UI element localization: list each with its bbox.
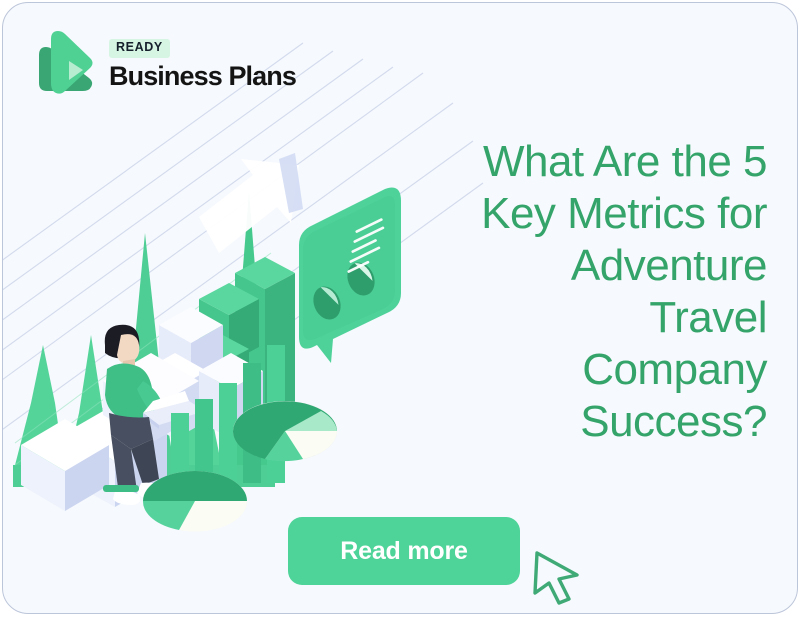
ready-badge: READY <box>109 39 170 58</box>
play-triangle-logo-icon <box>33 25 95 103</box>
isometric-business-analytics-scene <box>3 113 423 533</box>
pie-chart-large <box>233 401 337 461</box>
mouse-pointer-arrow-icon <box>531 549 583 605</box>
brand-name: Business Plans <box>109 62 296 90</box>
brand-wordmark: READY Business Plans <box>109 38 296 90</box>
page-title: What Are the 5 Key Metrics for Adventure… <box>407 136 767 448</box>
brand-logo[interactable]: READY Business Plans <box>33 25 296 103</box>
promo-card: READY Business Plans <box>2 2 798 614</box>
pie-chart-small <box>143 471 247 531</box>
read-more-button[interactable]: Read more <box>288 517 520 585</box>
